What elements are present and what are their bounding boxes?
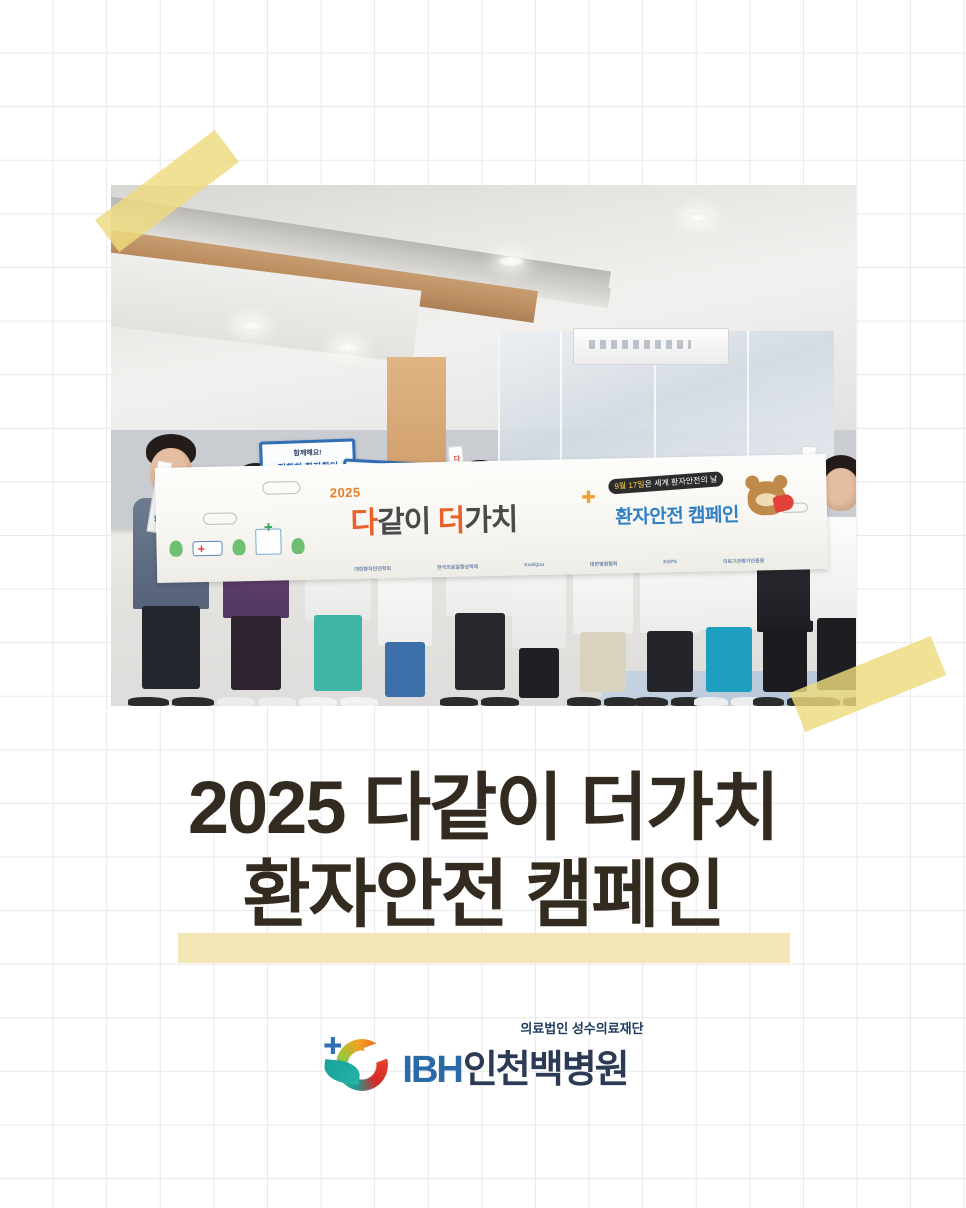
- headline-highlight-band: [178, 933, 790, 963]
- person-9-shoe-left: [694, 697, 728, 706]
- ceiling-light-4: [685, 212, 711, 223]
- banner-subtitle: 환자안전 캠페인: [615, 499, 739, 529]
- person-1-shoe-left: [128, 697, 169, 706]
- banner-main-part-4: 가치: [464, 504, 518, 538]
- person-2-legs: [231, 616, 281, 691]
- photo-scene: 환자안전의 날 다같이 더가치 다같이 더가치 함께해요! 정확한 환자확인 함…: [111, 185, 856, 706]
- headline-line-2: 환자안전 캠페인: [0, 859, 966, 932]
- banner-date-rest: 은 세계 환자안전의 날: [644, 475, 717, 489]
- banner-main-title: 다같이 더가치: [350, 495, 518, 542]
- ambulance-icon: [193, 541, 223, 557]
- person-7-legs: [580, 632, 626, 692]
- person-2-shoe-left: [217, 697, 255, 706]
- banner-main-part-1: 다: [350, 507, 377, 541]
- person-8-legs: [647, 631, 693, 692]
- banner-main-part-3: 더: [437, 505, 464, 539]
- banner-main-part-2: 같이: [376, 506, 430, 540]
- person-3-shoe-left: [299, 697, 337, 706]
- hospital-logo-lockup: 의료법인 성수의료재단 IBH 인천백병원: [0, 1015, 966, 1095]
- ceiling-sign-board: [573, 328, 729, 364]
- person-1-shoe-right: [172, 697, 213, 706]
- sponsor-logo-1: 대한환자안전학회: [354, 565, 391, 573]
- logo-text-column: 의료법인 성수의료재단 IBH 인천백병원: [402, 1018, 643, 1095]
- logo-brand-name: 인천백병원: [463, 1038, 628, 1093]
- bear-mascot-icon: [742, 473, 789, 516]
- person-9-legs: [706, 627, 752, 692]
- person-3-legs: [314, 615, 362, 691]
- person-10-shoe-left: [753, 697, 784, 706]
- tree-icon-3: [291, 538, 304, 554]
- sponsor-logo-6: 의료기관평가인증원: [722, 557, 764, 565]
- hospital-building-icon: [255, 529, 282, 556]
- person-11-head: [823, 468, 856, 511]
- banner-cloud-1: [262, 481, 300, 495]
- person-6-legs: [519, 648, 559, 698]
- banner-illustration-icons: [169, 528, 305, 557]
- ceiling-light-2: [335, 342, 361, 353]
- banner-date-tag: 9월 17일은 세계 환자안전의 날: [607, 472, 723, 495]
- tree-icon-2: [232, 540, 245, 556]
- banner-plus-icon: ✚: [581, 488, 596, 508]
- person-2-shoe-right: [258, 697, 296, 706]
- logo-brand-row: IBH 인천백병원: [402, 1038, 627, 1093]
- sponsor-logo-4: 대한병원협회: [589, 560, 617, 568]
- tree-icon-1: [170, 541, 183, 557]
- headline-line-1: 2025 다같이 더가치: [0, 772, 966, 845]
- sponsor-logo-5: KSPS: [663, 559, 677, 565]
- person-5-legs: [455, 613, 505, 691]
- page-title: 2025 다같이 더가치 환자안전 캠페인: [0, 772, 966, 931]
- person-4-legs: [385, 642, 425, 697]
- person-7-shoe-left: [567, 697, 601, 706]
- sponsor-logo-3: KoSQua: [524, 562, 544, 568]
- ceiling-light-1: [238, 320, 264, 331]
- person-1-legs: [142, 606, 200, 689]
- logo-foundation-name: 의료법인 성수의료재단: [520, 1018, 643, 1037]
- person-8-shoe-left: [634, 697, 668, 706]
- banner-cloud-2: [202, 512, 236, 525]
- logo-brand-abbr: IBH: [402, 1049, 461, 1092]
- sponsor-logo-2: 한국의료질향상학회: [437, 563, 479, 571]
- banner-date-highlight: 9월 17일: [613, 480, 644, 491]
- campaign-banner: 2025 다같이 더가치 ✚ 9월 17일은 세계 환자안전의 날 환자안전 캠…: [155, 454, 828, 583]
- hospital-logo-mark-icon: [322, 1033, 396, 1095]
- campaign-photo: 환자안전의 날 다같이 더가치 다같이 더가치 함께해요! 정확한 환자확인 함…: [111, 185, 856, 706]
- person-5-shoe-left: [440, 697, 478, 706]
- person-10-legs: [763, 629, 807, 692]
